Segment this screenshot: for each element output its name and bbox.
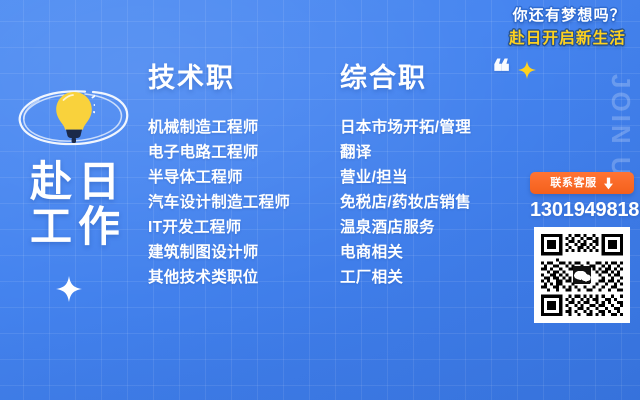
- list-item[interactable]: 电子电路工程师: [148, 140, 328, 165]
- list-item[interactable]: 电商相关: [340, 240, 530, 265]
- list-item[interactable]: 半导体工程师: [148, 165, 328, 190]
- contact-block: 联系客服 13019498186: [530, 172, 634, 323]
- list-item[interactable]: 其他技术类职位: [148, 265, 328, 290]
- list-item[interactable]: 日本市场开拓/管理: [340, 115, 530, 140]
- arrow-down-icon: [603, 177, 614, 190]
- contact-support-button[interactable]: 联系客服: [530, 172, 634, 194]
- list-item[interactable]: 机械制造工程师: [148, 115, 328, 140]
- page-title-line-2: 工作: [0, 204, 150, 250]
- job-list-general: 日本市场开拓/管理 翻译 营业/担当 免税店/药妆店销售 温泉酒店服务 电商相关…: [340, 115, 530, 290]
- headline-line-1: 你还有梦想吗？: [509, 6, 626, 26]
- lightbulb-icon: [53, 90, 95, 144]
- four-point-star-icon: [56, 276, 82, 302]
- job-category-general: 综合职 日本市场开拓/管理 翻译 营业/担当 免税店/药妆店销售 温泉酒店服务 …: [340, 62, 530, 290]
- list-item[interactable]: 汽车设计制造工程师: [148, 190, 328, 215]
- column-title-general: 综合职: [340, 62, 530, 94]
- lightbulb-badge: [15, 78, 135, 156]
- join-us-watermark: JOIN U: [606, 74, 636, 179]
- list-item[interactable]: 翻译: [340, 140, 530, 165]
- poster-canvas: 你还有梦想吗？ 赴日开启新生活 ❝ JOIN U: [0, 0, 640, 400]
- job-category-tech: 技术职 机械制造工程师 电子电路工程师 半导体工程师 汽车设计制造工程师 IT开…: [148, 62, 328, 290]
- list-item[interactable]: 免税店/药妆店销售: [340, 190, 530, 215]
- left-title-block: 赴日 工作: [0, 78, 150, 250]
- list-item[interactable]: 工厂相关: [340, 265, 530, 290]
- column-title-tech: 技术职: [148, 62, 328, 94]
- list-item[interactable]: 建筑制图设计师: [148, 240, 328, 265]
- headline-block: 你还有梦想吗？ 赴日开启新生活: [509, 6, 626, 49]
- list-item[interactable]: 温泉酒店服务: [340, 215, 530, 240]
- headline-line-2: 赴日开启新生活: [509, 29, 626, 49]
- list-item[interactable]: 营业/担当: [340, 165, 530, 190]
- contact-support-button-label: 联系客服: [550, 177, 596, 189]
- page-title-line-1: 赴日: [0, 160, 150, 204]
- phone-number[interactable]: 13019498186: [530, 199, 634, 222]
- qr-code[interactable]: [534, 227, 630, 323]
- list-item[interactable]: IT开发工程师: [148, 215, 328, 240]
- job-list-tech: 机械制造工程师 电子电路工程师 半导体工程师 汽车设计制造工程师 IT开发工程师…: [148, 115, 328, 290]
